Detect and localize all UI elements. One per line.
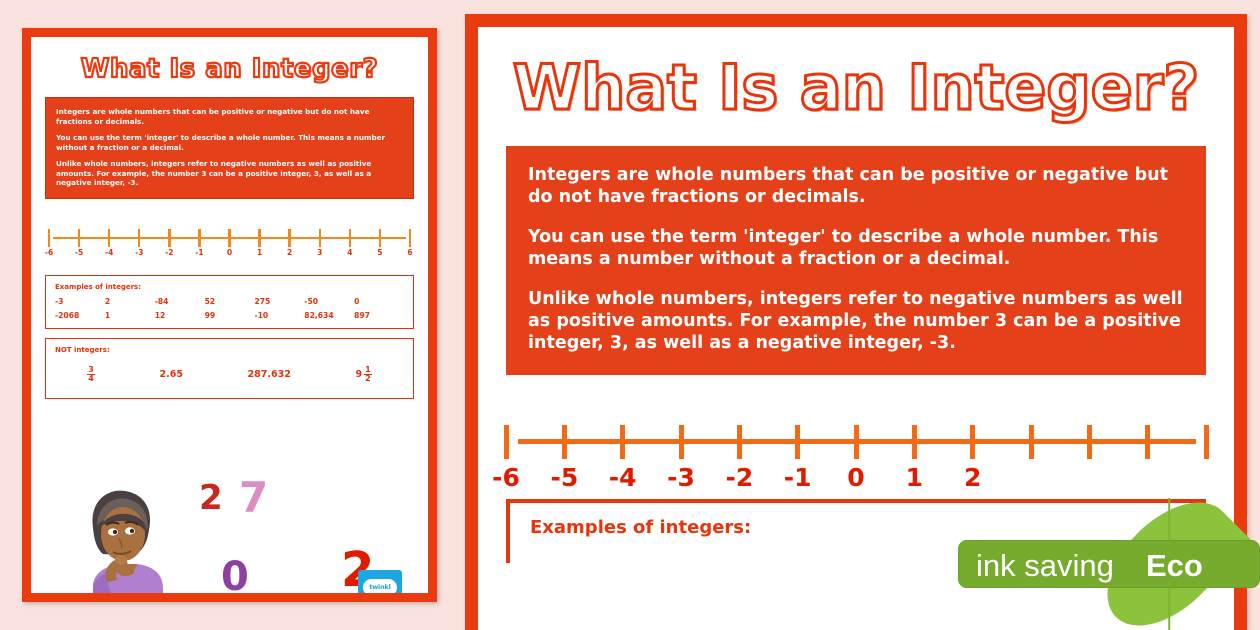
thumbnail-example-cell: 897	[354, 311, 404, 320]
tick-label-2: 2	[964, 463, 981, 492]
tick-label--5: -5	[550, 463, 578, 492]
tick-label--6: -6	[492, 463, 520, 492]
tick-2	[970, 425, 975, 459]
thumbnail-tick-label--2: -2	[165, 248, 173, 257]
thumbnail-examples-panel: Examples of integers: -32-8452275-500-20…	[45, 275, 414, 329]
thinking-person-illustration	[63, 482, 183, 602]
thumbnail-example-cell: 52	[205, 297, 255, 306]
thumbnail-example-cell: 82,634	[304, 311, 354, 320]
thumbnail-tick-label--6: -6	[45, 248, 53, 257]
thumbnail-example-cell: 12	[155, 311, 205, 320]
thumbnail-tick--1	[198, 229, 200, 247]
tick-label-1: 1	[906, 463, 923, 492]
tick-label--1: -1	[784, 463, 812, 492]
thumbnail-example-cell: 275	[254, 297, 304, 306]
number-line: -6-5-4-3-2-1012	[506, 413, 1206, 485]
thumbnail-tick-5	[379, 229, 381, 247]
tick-6	[1204, 425, 1209, 459]
thumbnail-tick-label-5: 5	[377, 248, 382, 257]
thumbnail-tick--6	[48, 229, 50, 247]
tick-4	[1087, 425, 1092, 459]
thumbnail-paragraph-1: Integers are whole numbers that can be p…	[56, 107, 403, 126]
thumbnail-examples-row: -32-8452275-500	[55, 297, 404, 306]
thumbnail-example-cell: -3	[55, 297, 105, 306]
thumbnail-illustration: 2 7 0 2 twinkl	[31, 475, 428, 602]
not-integer-item: 34	[87, 366, 95, 382]
thumbnail-tick-3	[319, 229, 321, 247]
thumbnail-card[interactable]: What Is an Integer? Integers are whole n…	[22, 28, 437, 602]
ink-saving-eco-badge: ink saving Eco	[958, 533, 1260, 595]
paragraph-1: Integers are whole numbers that can be p…	[528, 164, 1184, 209]
tick--4	[620, 425, 625, 459]
paragraph-3: Unlike whole numbers, integers refer to …	[528, 288, 1184, 355]
thumbnail-example-cell: 99	[205, 311, 255, 320]
twinkl-logo: twinkl	[358, 570, 402, 602]
thumbnail-tick-2	[288, 229, 290, 247]
thumbnail-tick-0	[228, 229, 230, 247]
tick-1	[912, 425, 917, 459]
floating-digit-2a: 2	[199, 478, 223, 518]
tick-label-0: 0	[847, 463, 864, 492]
page-title: What Is an Integer?	[506, 51, 1206, 124]
thumbnail-not-integers-row: 342.65287.632912	[55, 360, 404, 390]
tick--2	[737, 425, 742, 459]
thumbnail-tick--3	[138, 229, 140, 247]
ink-saving-label: ink saving	[976, 548, 1114, 584]
tick--6	[504, 425, 509, 459]
not-integer-item: 912	[355, 366, 371, 382]
twinkl-logo-label: twinkl	[363, 579, 397, 596]
tick-label--4: -4	[609, 463, 637, 492]
thumbnail-example-cell: 1	[105, 311, 155, 320]
not-integer-item: 2.65	[159, 369, 182, 380]
thumbnail-tick-label--4: -4	[105, 248, 113, 257]
not-integer-item: 287.632	[248, 369, 291, 380]
eco-label: Eco	[1146, 548, 1203, 584]
thumbnail-tick-label--5: -5	[75, 248, 83, 257]
thumbnail-tick--2	[168, 229, 170, 247]
thumbnail-example-cell: -50	[304, 297, 354, 306]
thumbnail-paragraph-2: You can use the term 'integer' to descri…	[56, 133, 403, 152]
thumbnail-not-integers-heading: NOT integers:	[55, 346, 404, 354]
thumbnail-examples-heading: Examples of integers:	[55, 283, 404, 291]
thumbnail-not-integers-panel: NOT integers: 342.65287.632912	[45, 338, 414, 399]
thumbnail-paragraph-3: Unlike whole numbers, integers refer to …	[56, 159, 403, 188]
thumbnail-tick--5	[78, 229, 80, 247]
thumbnail-tick-label-6: 6	[407, 248, 412, 257]
thumbnail-example-cell: 0	[354, 297, 404, 306]
thumbnail-tick--4	[108, 229, 110, 247]
poster-preview-stage: What Is an Integer? Integers are whole n…	[0, 0, 1260, 630]
thumbnail-tick-6	[409, 229, 411, 247]
thumbnail-tick-label--1: -1	[195, 248, 203, 257]
thumbnail-number-line: -6-5-4-3-2-10123456	[49, 226, 410, 264]
thumbnail-tick-label-3: 3	[317, 248, 322, 257]
floating-digit-0: 0	[221, 554, 249, 600]
thumbnail-tick-label-1: 1	[257, 248, 262, 257]
thumbnail-tick-label-2: 2	[287, 248, 292, 257]
tick--5	[562, 425, 567, 459]
thumbnail-tick-label-0: 0	[227, 248, 232, 257]
thumbnail-intro-box: Integers are whole numbers that can be p…	[45, 97, 414, 199]
floating-digit-7: 7	[239, 473, 268, 522]
thumbnail-page: What Is an Integer? Integers are whole n…	[31, 54, 428, 602]
tick--3	[679, 425, 684, 459]
tick-label--3: -3	[667, 463, 695, 492]
thumbnail-example-cell: -10	[254, 311, 304, 320]
thumbnail-example-cell: -2068	[55, 311, 105, 320]
thumbnail-example-cell: -84	[155, 297, 205, 306]
thumbnail-tick-1	[258, 229, 260, 247]
tick--1	[795, 425, 800, 459]
tick-0	[854, 425, 859, 459]
tick-5	[1145, 425, 1150, 459]
thumbnail-example-cell: 2	[105, 297, 155, 306]
tick-3	[1029, 425, 1034, 459]
intro-text-box: Integers are whole numbers that can be p…	[506, 146, 1206, 375]
thumbnail-tick-label--3: -3	[135, 248, 143, 257]
thumbnail-tick-label-4: 4	[347, 248, 352, 257]
tick-label--2: -2	[725, 463, 753, 492]
paragraph-2: You can use the term 'integer' to descri…	[528, 226, 1184, 271]
thumbnail-examples-row: -206811299-1082,634897	[55, 311, 404, 320]
thumbnail-tick-4	[349, 229, 351, 247]
thumbnail-page-title: What Is an Integer?	[31, 54, 428, 84]
